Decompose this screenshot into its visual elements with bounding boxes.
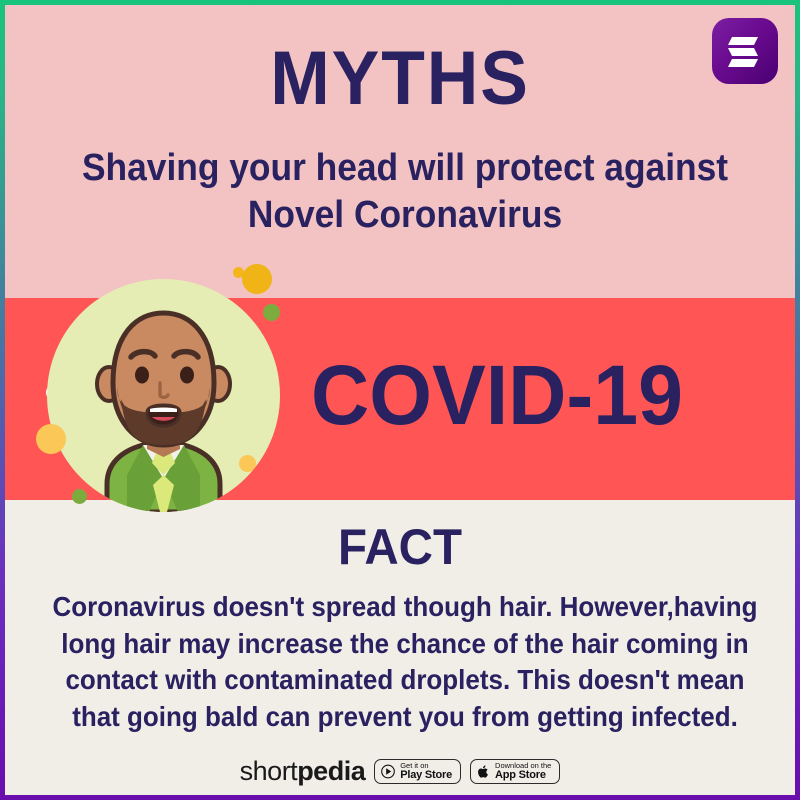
dot-amber-right: [239, 455, 256, 472]
covid-heading: COVID-19: [295, 353, 698, 437]
poster-content: MYTHS Shaving your head will protect aga…: [5, 5, 795, 795]
app-store-badge[interactable]: Download on the App Store: [470, 759, 560, 784]
fact-body-text: Coronavirus doesn't spread though hair. …: [44, 589, 766, 735]
play-store-badge-text: Get it on Play Store: [400, 762, 452, 781]
dot-amber-left: [36, 424, 66, 454]
myth-statement: Shaving your head will protect against N…: [80, 145, 731, 239]
google-play-icon: [381, 764, 395, 779]
dot-green-bottom: [72, 489, 87, 504]
brand-name-light: short: [240, 756, 298, 786]
play-store-badge[interactable]: Get it on Play Store: [374, 759, 461, 784]
fact-heading: FACT: [25, 522, 776, 572]
app-store-badge-bottom: App Store: [495, 770, 551, 781]
shortpedia-logo-icon: [712, 18, 778, 84]
avatar: [47, 279, 280, 512]
myth-heading: MYTHS: [29, 41, 772, 117]
shortpedia-wordmark: shortpedia: [240, 756, 366, 787]
app-store-badge-text: Download on the App Store: [495, 762, 551, 781]
bald-bearded-man-avatar-icon: [47, 279, 280, 512]
infographic-poster: MYTHS Shaving your head will protect aga…: [0, 0, 800, 800]
footer: shortpedia Get it on Play Store Download: [5, 756, 795, 787]
apple-icon: [477, 764, 490, 779]
brand-name-bold: pedia: [297, 756, 365, 786]
play-store-badge-bottom: Play Store: [400, 770, 452, 781]
